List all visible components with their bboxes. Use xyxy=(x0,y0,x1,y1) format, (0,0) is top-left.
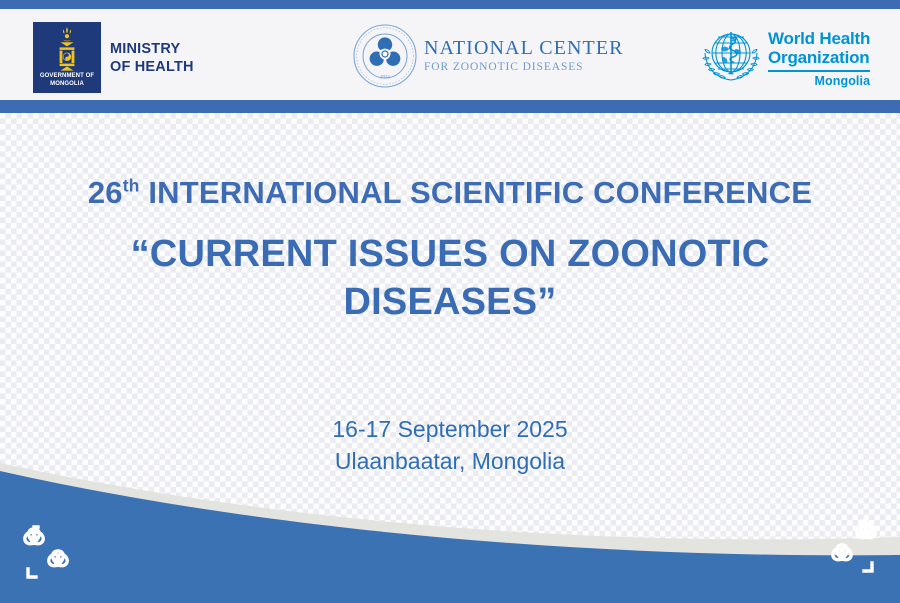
logo-row: GOVERNMENT OF MONGOLIA MINISTRY OF HEALT… xyxy=(0,9,900,100)
who-divider-rule xyxy=(768,70,870,72)
mongolian-knot-ornament xyxy=(816,511,886,581)
edition-rest: INTERNATIONAL SCIENTIFIC CONFERENCE xyxy=(140,175,813,210)
conference-edition-title: 26th INTERNATIONAL SCIENTIFIC CONFERENCE xyxy=(0,175,900,211)
ministry-caption-line1: GOVERNMENT OF xyxy=(40,73,94,79)
mongolian-knot-ornament xyxy=(14,517,84,587)
who-country-label: Mongolia xyxy=(768,75,870,88)
national-center-line1: NATIONAL CENTER xyxy=(424,38,624,58)
header-separator-bar xyxy=(0,100,900,113)
footer-wave xyxy=(0,463,900,603)
ministry-of-health-logo: GOVERNMENT OF MONGOLIA MINISTRY OF HEALT… xyxy=(33,22,194,93)
biohazard-seal: 1931 xyxy=(352,23,418,89)
conference-title-slide: GOVERNMENT OF MONGOLIA MINISTRY OF HEALT… xyxy=(0,0,900,603)
who-name-line2: Organization xyxy=(768,48,870,67)
who-name-line1: World Health xyxy=(768,29,870,48)
title-block: 26th INTERNATIONAL SCIENTIFIC CONFERENCE… xyxy=(0,175,900,326)
national-center-label: NATIONAL CENTER FOR ZOONOTIC DISEASES xyxy=(424,38,624,74)
event-date: 16-17 September 2025 xyxy=(0,413,900,445)
who-label: World Health Organization Mongolia xyxy=(768,27,870,87)
ministry-emblem-caption: GOVERNMENT OF MONGOLIA xyxy=(33,72,101,88)
edition-ordinal: th xyxy=(123,176,140,196)
ministry-label-line1: MINISTRY xyxy=(110,40,194,58)
soyombo-emblem: GOVERNMENT OF MONGOLIA xyxy=(33,22,101,93)
national-center-logo: 1931 NATIONAL CENTER FOR ZOONOTIC DISEAS… xyxy=(352,23,624,89)
who-emblem xyxy=(700,27,762,85)
conference-theme-title: “CURRENT ISSUES ON ZOONOTIC DISEASES” xyxy=(0,230,900,326)
top-accent-bar xyxy=(0,0,900,9)
ministry-of-health-label: MINISTRY OF HEALTH xyxy=(110,40,194,76)
edition-number: 26 xyxy=(88,175,123,210)
national-center-line2: FOR ZOONOTIC DISEASES xyxy=(424,62,624,74)
seal-year: 1931 xyxy=(380,75,391,81)
who-logo: World Health Organization Mongolia xyxy=(700,27,870,87)
ministry-caption-line2: MONGOLIA xyxy=(50,81,84,87)
ministry-label-line2: OF HEALTH xyxy=(110,58,194,76)
